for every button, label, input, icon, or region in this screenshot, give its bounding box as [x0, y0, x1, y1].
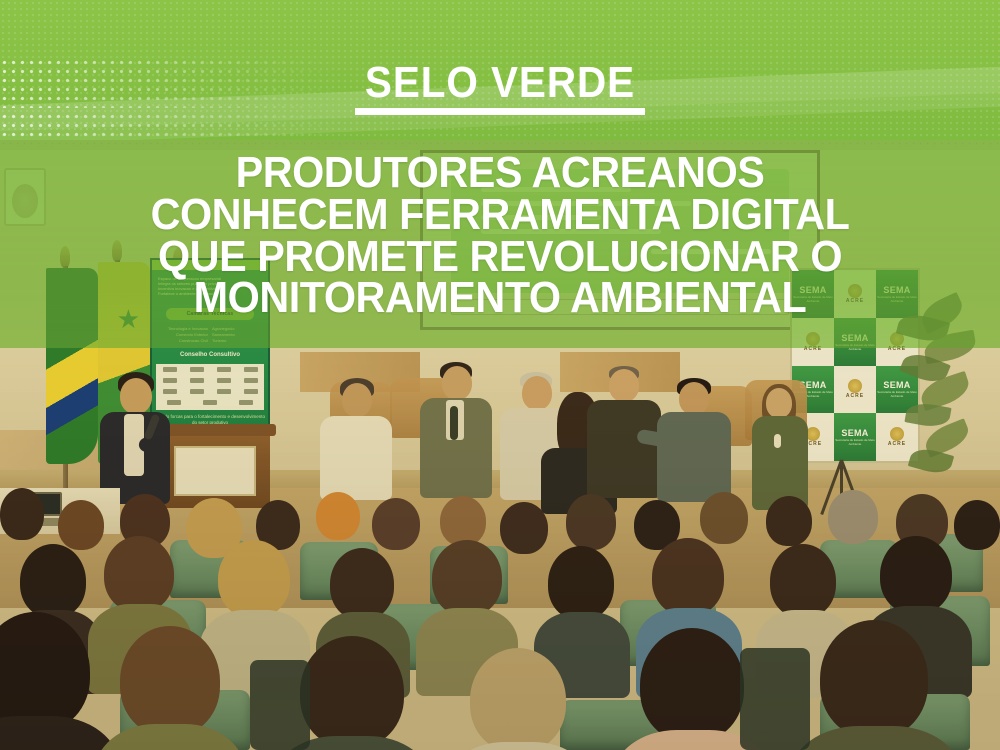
podium-plate	[174, 446, 256, 496]
news-graphic: ★ Espaco de cooperacao empresarial Integ…	[0, 0, 1000, 750]
person-stage-1	[318, 378, 394, 498]
state-seal-icon	[848, 379, 862, 393]
headline-line-2: CONHECEM FERRAMENTA DIGITAL	[30, 194, 970, 236]
person-stage-suit	[418, 362, 494, 498]
person-stage-receiving	[655, 378, 735, 502]
kicker-underline	[355, 108, 645, 115]
rollup-council: Conselho Consultivo	[152, 352, 268, 358]
headline-line-3: QUE PROMETE REVOLUCIONAR O	[30, 236, 970, 278]
lanyard-badge-icon	[774, 434, 781, 448]
headline: PRODUTORES ACREANOS CONHECEM FERRAMENTA …	[30, 152, 970, 319]
headline-line-1: PRODUTORES ACREANOS	[30, 152, 970, 194]
person-stage-woman	[748, 384, 814, 510]
person-speaker-mic	[98, 372, 178, 502]
kicker-title: SELO VERDE	[40, 58, 960, 108]
halftone-texture	[0, 112, 340, 140]
headline-line-4: MONITORAMENTO AMBIENTAL	[30, 277, 970, 319]
